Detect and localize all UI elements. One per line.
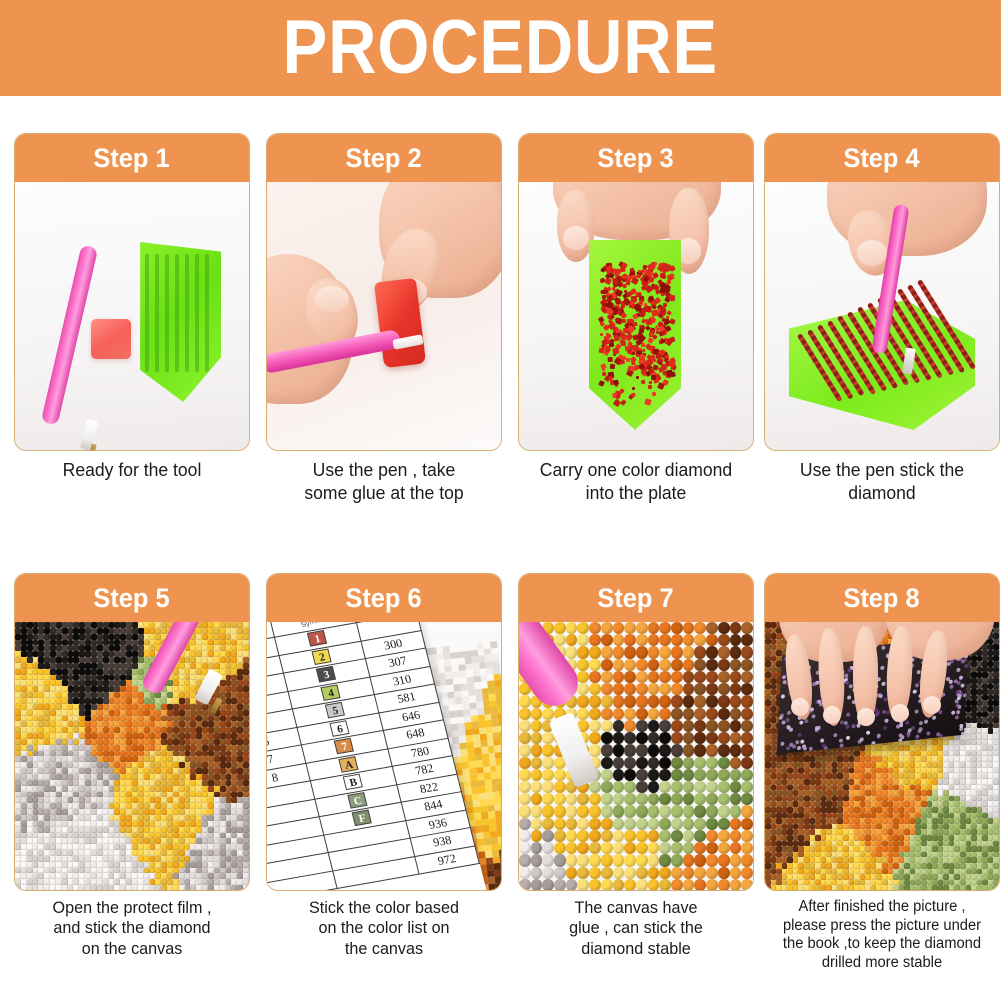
diamond-cell <box>706 842 718 854</box>
diamond-cell <box>97 780 103 786</box>
diamond-cell <box>220 704 226 710</box>
diamond-cell <box>21 786 27 792</box>
diamond-cell <box>730 708 742 720</box>
diamond-cell <box>741 732 753 744</box>
diamond-cell <box>694 695 706 707</box>
diamond-cell <box>854 779 860 785</box>
symbol-swatch: A <box>339 756 359 773</box>
diamond-cell <box>601 720 613 732</box>
diamond-cell <box>27 827 33 833</box>
diamond-cell <box>776 779 782 785</box>
diamond-cell <box>683 695 695 707</box>
diamond-cell <box>659 671 671 683</box>
diamond-cell <box>636 854 648 866</box>
step-header-7: Step 7 <box>519 574 753 622</box>
diamond-cell <box>220 821 226 827</box>
diamond-cell <box>624 854 636 866</box>
diamond-cell <box>671 854 683 866</box>
diamond-cell <box>589 854 601 866</box>
diamond-cell <box>531 720 543 732</box>
diamond-cell <box>566 805 578 817</box>
symbol-swatch: C <box>348 792 368 809</box>
diamond-cell <box>636 720 648 732</box>
diamond-cell <box>694 879 706 891</box>
diamond-cell <box>173 780 179 786</box>
diamond-cell <box>718 842 730 854</box>
diamond-cell <box>56 786 62 792</box>
diamond-cell <box>971 734 977 740</box>
diamond-cell <box>542 781 554 793</box>
diamond-cell <box>554 879 566 891</box>
diamond-cell <box>138 862 144 868</box>
diamond-cell <box>519 842 531 854</box>
diamond-cell <box>214 745 220 751</box>
diamond-cell <box>706 854 718 866</box>
diamond-cell <box>243 821 249 827</box>
diamond-cell <box>741 830 753 842</box>
diamond-cell <box>21 780 27 786</box>
diamond-cell <box>683 867 695 879</box>
diamond-cell <box>21 663 27 669</box>
diamond-cell <box>542 744 554 756</box>
diamond-cell <box>671 818 683 830</box>
diamond-cell <box>589 646 601 658</box>
diamond-cell <box>589 634 601 646</box>
diamond-cell <box>97 827 103 833</box>
diamond-cell <box>62 856 68 862</box>
diamond-cell <box>220 780 226 786</box>
diamond-cell <box>179 862 185 868</box>
diamond-cell <box>97 622 103 628</box>
diamond-cell <box>683 732 695 744</box>
diamond-cell <box>566 818 578 830</box>
diamond-cell <box>636 818 648 830</box>
diamond-cell <box>97 745 103 751</box>
diamond-cell <box>741 854 753 866</box>
diamond-cell <box>132 827 138 833</box>
diamond-cell <box>613 671 625 683</box>
diamond-cell <box>624 867 636 879</box>
step-card-8: Step 8 <box>764 573 1000 891</box>
diamond-cell <box>144 815 150 821</box>
diamond-cell <box>718 683 730 695</box>
diamond-cell <box>706 879 718 891</box>
diamond-cell <box>683 622 695 634</box>
diamond-cell <box>243 698 249 704</box>
step-card-5: Step 5 <box>14 573 250 891</box>
diamond-cell <box>132 885 138 891</box>
diamond-cell <box>554 805 566 817</box>
diamond-cell <box>659 854 671 866</box>
diamond-cell <box>97 862 103 868</box>
diamond-cell <box>62 815 68 821</box>
diamond-cell <box>589 867 601 879</box>
diamond-cell <box>62 862 68 868</box>
diamond-cell <box>730 732 742 744</box>
diamond-cell <box>103 698 109 704</box>
diamond-cell <box>613 683 625 695</box>
diamond-cell <box>589 781 601 793</box>
diamond-cell <box>27 739 33 745</box>
diamond-cell <box>179 821 185 827</box>
diamond-cell <box>706 769 718 781</box>
diamond-cell <box>56 856 62 862</box>
diamond-cell <box>706 646 718 658</box>
diamond-cell <box>173 815 179 821</box>
diamond-cell <box>882 762 888 768</box>
diamond-cell <box>741 634 753 646</box>
step-caption-6: Stick the color based on the color list … <box>265 898 503 959</box>
diamond-cell <box>220 786 226 792</box>
diamond-cell <box>659 744 671 756</box>
diamond-cell <box>694 854 706 866</box>
diamond-drill <box>659 350 664 355</box>
diamond-cell <box>683 646 695 658</box>
diamond-cell <box>138 704 144 710</box>
diamond-cell <box>179 669 185 675</box>
symbol-swatch: B <box>343 774 363 791</box>
diamond-cell <box>671 634 683 646</box>
diamond-cell <box>683 805 695 817</box>
diamond-cell <box>601 781 613 793</box>
diamond-cell <box>173 739 179 745</box>
diamond-cell <box>648 854 660 866</box>
diamond-cell <box>214 786 220 792</box>
diamond-drill <box>615 298 621 304</box>
diamond-cell <box>683 744 695 756</box>
diamond-cell <box>21 634 27 640</box>
diamond-cell <box>21 862 27 868</box>
diamond-cell <box>220 622 226 628</box>
step-card-1: Step 1 <box>14 133 250 451</box>
diamond-cell <box>624 805 636 817</box>
diamond-cell <box>62 704 68 710</box>
diamond-cell <box>138 885 144 891</box>
diamond-cell <box>730 879 742 891</box>
diamond-cell <box>765 734 771 740</box>
diamond-cell <box>103 628 109 634</box>
diamond-cell <box>519 695 531 707</box>
diamond-cell <box>577 842 589 854</box>
fingernail-icon <box>563 226 589 250</box>
diamond-cell <box>659 757 671 769</box>
diamond-cell <box>103 745 109 751</box>
diamond-cell <box>706 793 718 805</box>
diamond-cell <box>531 744 543 756</box>
diamond-cell <box>730 720 742 732</box>
diamond-cell <box>636 659 648 671</box>
diamond-cell <box>624 646 636 658</box>
diamond-cell <box>648 793 660 805</box>
diamond-cell <box>566 793 578 805</box>
symbol-swatch: 5 <box>325 702 345 719</box>
diamond-cell <box>613 708 625 720</box>
diamond-cell <box>220 856 226 862</box>
symbol-swatch: F <box>352 810 372 827</box>
step-header-label: Step 8 <box>844 583 920 614</box>
diamond-cell <box>243 628 249 634</box>
diamond-cell <box>519 867 531 879</box>
diamond-cell <box>624 634 636 646</box>
diamond-cell <box>648 659 660 671</box>
diamond-cell <box>648 634 660 646</box>
diamond-cell <box>179 663 185 669</box>
diamond-cell <box>27 821 33 827</box>
diamond-cell <box>993 706 999 712</box>
diamond-cell <box>531 781 543 793</box>
step-caption-2: Use the pen , take some glue at the top <box>265 458 503 505</box>
diamond-cell <box>718 769 730 781</box>
diamond-cell <box>648 867 660 879</box>
diamond-cell <box>62 827 68 833</box>
step-header-label: Step 4 <box>844 143 920 174</box>
diamond-cell <box>144 856 150 862</box>
diamond-cell <box>624 720 636 732</box>
diamond-cell <box>624 744 636 756</box>
diamond-cell <box>21 628 27 634</box>
diamond-cell <box>730 818 742 830</box>
diamond-cell <box>138 786 144 792</box>
diamond-cell <box>56 710 62 716</box>
diamond-cell <box>683 854 695 866</box>
diamond-cell <box>730 793 742 805</box>
diamond-cell <box>921 762 927 768</box>
diamond-cell <box>220 634 226 640</box>
diamond-cell <box>138 815 144 821</box>
diamond-cell <box>730 769 742 781</box>
diamond-cell <box>636 757 648 769</box>
diamond-cell <box>103 634 109 640</box>
diamond-cell <box>636 830 648 842</box>
diamond-cell <box>730 622 742 634</box>
diamond-cell <box>144 827 150 833</box>
diamond-cell <box>659 805 671 817</box>
diamond-cell <box>214 815 220 821</box>
diamond-cell <box>659 683 671 695</box>
diamond-cell <box>566 646 578 658</box>
diamond-cell <box>741 867 753 879</box>
step-caption-1: Ready for the tool <box>13 458 251 481</box>
step-photo-6: Serial Symbol DMC 1122300333074431055581… <box>267 622 501 891</box>
diamond-cell <box>542 732 554 744</box>
diamond-cell <box>577 634 589 646</box>
diamond-cell <box>554 781 566 793</box>
diamond-cell <box>21 669 27 675</box>
diamond-cell <box>214 862 220 868</box>
diamond-cell <box>220 745 226 751</box>
diamond-cell <box>659 659 671 671</box>
diamond-cell <box>179 780 185 786</box>
diamond-cell <box>659 646 671 658</box>
diamond-cell <box>648 622 660 634</box>
diamond-cell <box>27 885 33 891</box>
diamond-cell <box>741 744 753 756</box>
diamond-cell <box>542 769 554 781</box>
diamond-cell <box>243 739 249 745</box>
diamond-cell <box>601 830 613 842</box>
diamond-cell <box>659 793 671 805</box>
diamond-cell <box>613 634 625 646</box>
diamond-cell <box>613 732 625 744</box>
diamond-cell <box>613 842 625 854</box>
diamond-cell <box>243 856 249 862</box>
diamond-cell <box>718 732 730 744</box>
diamond-cell <box>741 769 753 781</box>
diamond-cell <box>577 793 589 805</box>
diamond-cell <box>144 622 150 628</box>
diamond-cell <box>815 762 821 768</box>
diamond-cell <box>15 669 21 675</box>
diamond-cell <box>741 818 753 830</box>
diamond-cell <box>683 757 695 769</box>
diamond-cell <box>741 757 753 769</box>
diamond-cell <box>138 710 144 716</box>
diamond-cell <box>542 830 554 842</box>
diamond-cell <box>648 744 660 756</box>
diamond-cell <box>636 879 648 891</box>
diamond-cell <box>636 634 648 646</box>
step-caption-3: Carry one color diamond into the plate <box>517 458 755 505</box>
diamond-cell <box>613 744 625 756</box>
step-photo-5 <box>15 622 249 891</box>
diamond-cell <box>138 634 144 640</box>
diamond-cell <box>519 732 531 744</box>
diamond-cell <box>21 821 27 827</box>
diamond-cell <box>97 628 103 634</box>
diamond-cell <box>613 818 625 830</box>
diamond-cell <box>420 890 427 891</box>
diamond-cell <box>671 646 683 658</box>
diamond-cell <box>21 885 27 891</box>
diamond-cell <box>718 634 730 646</box>
diamond-cell <box>694 634 706 646</box>
step-header-label: Step 6 <box>346 583 422 614</box>
diamond-cell <box>741 842 753 854</box>
diamond-cell <box>554 867 566 879</box>
diamond-drill <box>615 273 619 277</box>
diamond-drill <box>632 387 635 390</box>
diamond-cell <box>531 757 543 769</box>
diamond-cell <box>103 821 109 827</box>
diamond-drill <box>625 346 631 352</box>
step-photo-2 <box>267 182 501 451</box>
diamond-cell <box>56 704 62 710</box>
diamond-cell <box>519 708 531 720</box>
diamond-cell <box>636 805 648 817</box>
diamond-cell <box>718 805 730 817</box>
diamond-cell <box>636 793 648 805</box>
diamond-cell <box>648 671 660 683</box>
diamond-cell <box>519 879 531 891</box>
diamond-cell <box>62 885 68 891</box>
diamond-cell <box>531 805 543 817</box>
diamond-cell <box>97 704 103 710</box>
diamond-cell <box>103 669 109 675</box>
diamond-cell <box>741 781 753 793</box>
diamond-cell <box>624 695 636 707</box>
diamond-cell <box>893 762 899 768</box>
diamond-cell <box>554 769 566 781</box>
diamond-cell <box>103 862 109 868</box>
diamond-cell <box>144 710 150 716</box>
diamond-cell <box>132 628 138 634</box>
step-header-5: Step 5 <box>15 574 249 622</box>
diamond-cell <box>730 805 742 817</box>
diamond-cell <box>765 678 771 684</box>
diamond-cell <box>601 683 613 695</box>
step-header-label: Step 5 <box>94 583 170 614</box>
diamond-cell <box>577 818 589 830</box>
diamond-cell <box>730 646 742 658</box>
diamond-cell <box>624 671 636 683</box>
page-banner: PROCEDURE <box>0 0 1001 96</box>
diamond-cell <box>589 720 601 732</box>
diamond-cell <box>636 695 648 707</box>
diamond-cell <box>932 762 938 768</box>
diamond-cell <box>765 762 771 768</box>
diamond-cell <box>531 879 543 891</box>
diamond-cell <box>132 739 138 745</box>
diamond-cell <box>624 818 636 830</box>
diamond-cell <box>531 793 543 805</box>
diamond-cell <box>694 708 706 720</box>
diamond-cell <box>566 867 578 879</box>
diamond-drill <box>651 375 656 380</box>
diamond-cell <box>694 793 706 805</box>
diamond-cell <box>577 671 589 683</box>
fingernail-icon <box>857 240 887 266</box>
diamond-cell <box>718 744 730 756</box>
diamond-cell <box>56 821 62 827</box>
diamond-cell <box>671 732 683 744</box>
diamond-cell <box>648 879 660 891</box>
diamond-cell <box>56 698 62 704</box>
diamond-cell <box>531 732 543 744</box>
drill-tray-icon <box>135 242 221 402</box>
diamond-cell <box>103 704 109 710</box>
diamond-cell <box>179 698 185 704</box>
diamond-cell <box>694 781 706 793</box>
diamond-cell <box>613 757 625 769</box>
diamond-cell <box>21 710 27 716</box>
diamond-cell <box>243 669 249 675</box>
diamond-cell <box>601 769 613 781</box>
diamond-cell <box>15 780 21 786</box>
diamond-cell <box>27 704 33 710</box>
diamond-cell <box>138 622 144 628</box>
diamond-cell <box>243 663 249 669</box>
diamond-cell <box>173 827 179 833</box>
step-header-label: Step 1 <box>94 143 170 174</box>
diamond-cell <box>173 862 179 868</box>
diamond-cell <box>683 683 695 695</box>
diamond-cell <box>718 854 730 866</box>
diamond-cell <box>636 781 648 793</box>
diamond-cell <box>613 646 625 658</box>
step-header-label: Step 2 <box>346 143 422 174</box>
diamond-cell <box>993 779 999 785</box>
diamond-cell <box>132 856 138 862</box>
diamond-cell <box>694 683 706 695</box>
diamond-cell <box>243 634 249 640</box>
diamond-cell <box>671 793 683 805</box>
diamond-cell <box>671 842 683 854</box>
diamond-cell <box>15 786 21 792</box>
diamond-cell <box>683 720 695 732</box>
diamond-cell <box>144 634 150 640</box>
diamond-cell <box>671 867 683 879</box>
diamond-cell <box>179 745 185 751</box>
